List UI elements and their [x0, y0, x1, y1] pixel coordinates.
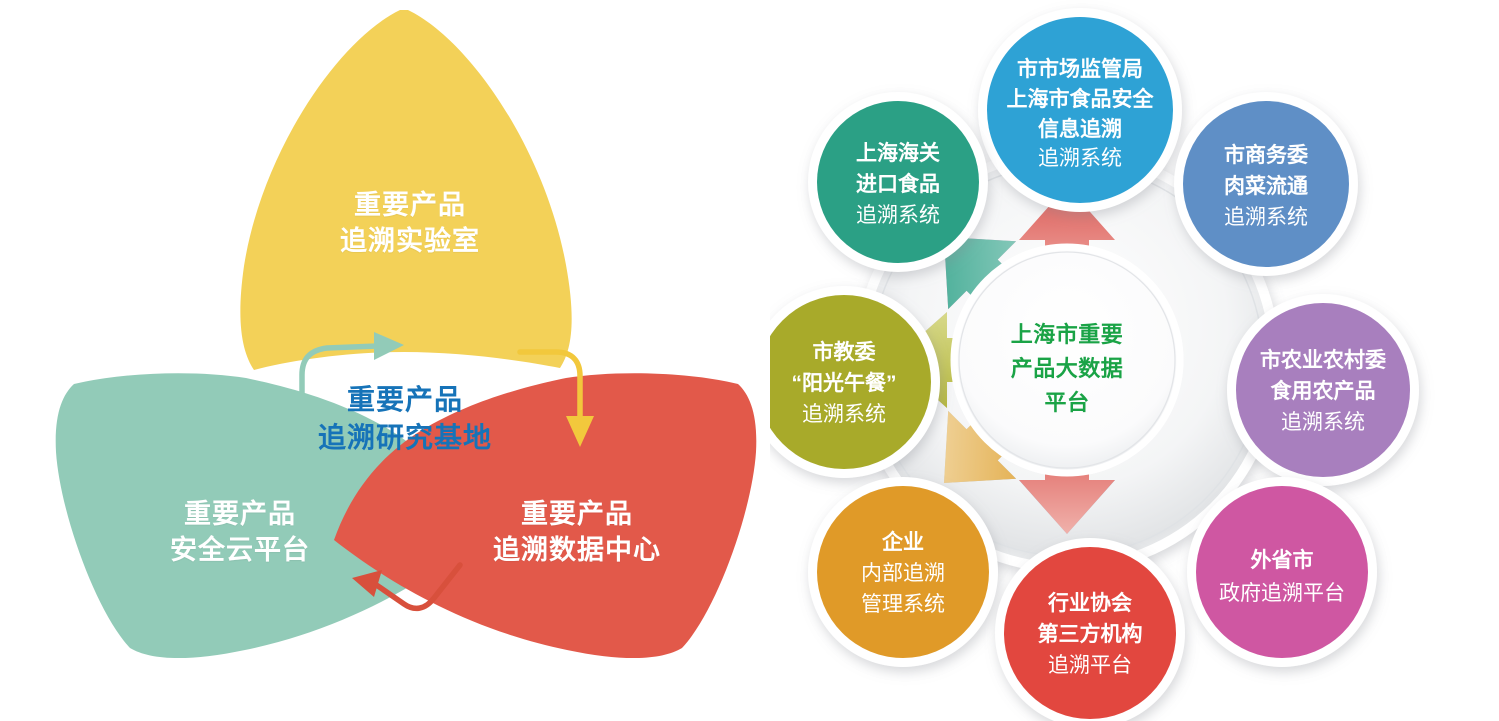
- petal-label-lab: 重要产品 追溯实验室: [290, 188, 530, 259]
- diagram-canvas: 重要产品 追溯实验室 重要产品 安全云平台 重要产品 追溯数据中心 重要产品 追…: [0, 0, 1499, 721]
- hub-diagram: 上海市重要 产品大数据 平台 市市场监管局 上海市食品安全 信息追溯 追溯系统 …: [770, 0, 1499, 721]
- trefoil-svg: [0, 0, 780, 721]
- petal-label-cloud-platform: 重要产品 安全云平台: [120, 497, 360, 568]
- node-industry-association[interactable]: [995, 538, 1185, 721]
- node-shanghai-customs[interactable]: [808, 92, 988, 272]
- node-market-supervision[interactable]: [978, 8, 1182, 212]
- node-enterprise[interactable]: [808, 477, 998, 667]
- petal-label-data-center: 重要产品 追溯数据中心: [452, 497, 702, 568]
- node-other-provinces[interactable]: [1187, 477, 1377, 667]
- node-agriculture-rural-commission[interactable]: [1227, 294, 1419, 486]
- hub-center-label: 上海市重要 产品大数据 平台: [992, 318, 1142, 420]
- trefoil-center-label: 重要产品 追溯研究基地: [280, 381, 530, 456]
- trefoil-diagram: 重要产品 追溯实验室 重要产品 安全云平台 重要产品 追溯数据中心 重要产品 追…: [0, 0, 780, 721]
- node-commerce-commission[interactable]: [1174, 92, 1358, 276]
